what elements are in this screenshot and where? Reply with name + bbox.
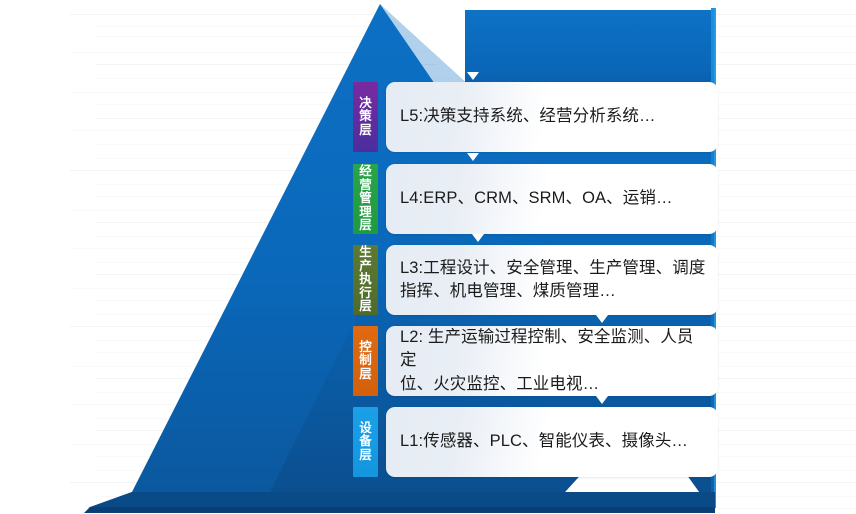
level-tag-5[interactable]: 决策层 <box>353 82 378 152</box>
level-card-5[interactable]: L5:决策支持系统、经营分析系统… <box>386 82 718 152</box>
level-card-text: L4:ERP、CRM、SRM、OA、运销… <box>400 187 673 210</box>
level-card-line: L5:决策支持系统、经营分析系统… <box>400 105 656 128</box>
level-tag-label: 设备层 <box>359 422 373 463</box>
level-card-line: L3:工程设计、安全管理、生产管理、调度 <box>400 257 705 280</box>
level-card-3[interactable]: L3:工程设计、安全管理、生产管理、调度指挥、机电管理、煤质管理… <box>386 245 718 315</box>
level-card-1[interactable]: L1:传感器、PLC、智能仪表、摄像头… <box>386 407 718 477</box>
level-tag-label: 经营管理层 <box>359 165 373 233</box>
pyramid-level-row: 决策层L5:决策支持系统、经营分析系统… <box>353 82 718 152</box>
pyramid-level-row: 控制层L2: 生产运输过程控制、安全监测、人员定位、火灾监控、工业电视… <box>353 326 718 396</box>
level-tag-label: 决策层 <box>359 97 373 138</box>
level-card-2[interactable]: L2: 生产运输过程控制、安全监测、人员定位、火灾监控、工业电视… <box>386 326 718 396</box>
pyramid-level-row: 经营管理层L4:ERP、CRM、SRM、OA、运销… <box>353 164 718 234</box>
pyramid-level-row: 生产执行层L3:工程设计、安全管理、生产管理、调度指挥、机电管理、煤质管理… <box>353 245 718 315</box>
pyramid-diagram: 决策层L5:决策支持系统、经营分析系统…经营管理层L4:ERP、CRM、SRM、… <box>0 0 856 514</box>
level-card-text: L5:决策支持系统、经营分析系统… <box>400 105 656 128</box>
level-divider-arrow-icon <box>467 72 479 80</box>
level-tag-2[interactable]: 控制层 <box>353 326 378 396</box>
level-card-text: L1:传感器、PLC、智能仪表、摄像头… <box>400 430 688 453</box>
pyramid-level-row: 设备层L1:传感器、PLC、智能仪表、摄像头… <box>353 407 718 477</box>
level-divider-arrow-icon <box>596 396 608 404</box>
level-card-line: L1:传感器、PLC、智能仪表、摄像头… <box>400 430 688 453</box>
level-divider-arrow-icon <box>596 315 608 323</box>
level-card-4[interactable]: L4:ERP、CRM、SRM、OA、运销… <box>386 164 718 234</box>
level-tag-label: 生产执行层 <box>359 246 373 314</box>
level-tag-label: 控制层 <box>359 341 373 382</box>
level-card-line: 位、火灾监控、工业电视… <box>400 373 708 396</box>
level-tag-3[interactable]: 生产执行层 <box>353 245 378 315</box>
pyramid-levels: 决策层L5:决策支持系统、经营分析系统…经营管理层L4:ERP、CRM、SRM、… <box>0 0 856 514</box>
level-tag-4[interactable]: 经营管理层 <box>353 164 378 234</box>
level-divider-arrow-icon <box>472 234 484 242</box>
level-card-line: L2: 生产运输过程控制、安全监测、人员定 <box>400 326 708 373</box>
level-card-text: L2: 生产运输过程控制、安全监测、人员定位、火灾监控、工业电视… <box>400 326 708 396</box>
level-card-line: 指挥、机电管理、煤质管理… <box>400 280 705 303</box>
level-divider-arrow-icon <box>467 153 479 161</box>
level-card-text: L3:工程设计、安全管理、生产管理、调度指挥、机电管理、煤质管理… <box>400 257 705 304</box>
level-tag-1[interactable]: 设备层 <box>353 407 378 477</box>
level-card-line: L4:ERP、CRM、SRM、OA、运销… <box>400 187 673 210</box>
